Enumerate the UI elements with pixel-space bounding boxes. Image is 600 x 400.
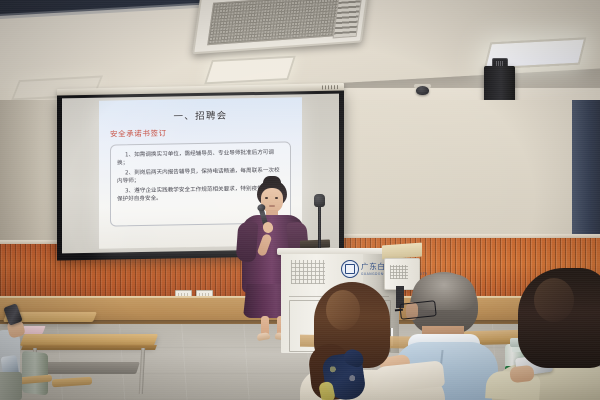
hair-highlight xyxy=(326,290,360,330)
presenter-sleeve xyxy=(236,221,259,262)
slide-subtitle: 安全承诺书签订 xyxy=(110,128,167,140)
audience-woman-with-scarf xyxy=(300,282,445,400)
presenter-eye xyxy=(265,197,268,199)
audience-woman-with-phone xyxy=(500,268,600,400)
microphone-stand xyxy=(318,200,321,250)
slide-body-line: 1、如需调换实习单位，需经辅导员、专业导师批准后方可调换； xyxy=(117,149,284,169)
equipment-board xyxy=(382,243,422,260)
window-curtain xyxy=(572,100,600,250)
university-crest-icon xyxy=(341,260,359,278)
microphone-head-icon xyxy=(314,194,325,207)
presenter-shoe xyxy=(256,332,270,341)
wall-upper-right xyxy=(340,100,600,246)
podium-speaker-grille xyxy=(291,260,325,284)
wall-shadow xyxy=(0,100,60,250)
hair-highlight xyxy=(534,278,574,322)
ceiling-light-panel xyxy=(204,56,296,85)
dome-camera-icon xyxy=(416,86,429,95)
slide-title: 一、招聘会 xyxy=(99,106,302,124)
desk-edge xyxy=(21,345,157,350)
chair xyxy=(0,372,28,400)
lecture-hall-photo: 一、招聘会 安全承诺书签订 1、如需调换实习单位，需经辅导员、专业导师批准后方可… xyxy=(0,0,600,400)
presenter-eye xyxy=(275,197,278,199)
presenter-mouth xyxy=(269,205,275,207)
